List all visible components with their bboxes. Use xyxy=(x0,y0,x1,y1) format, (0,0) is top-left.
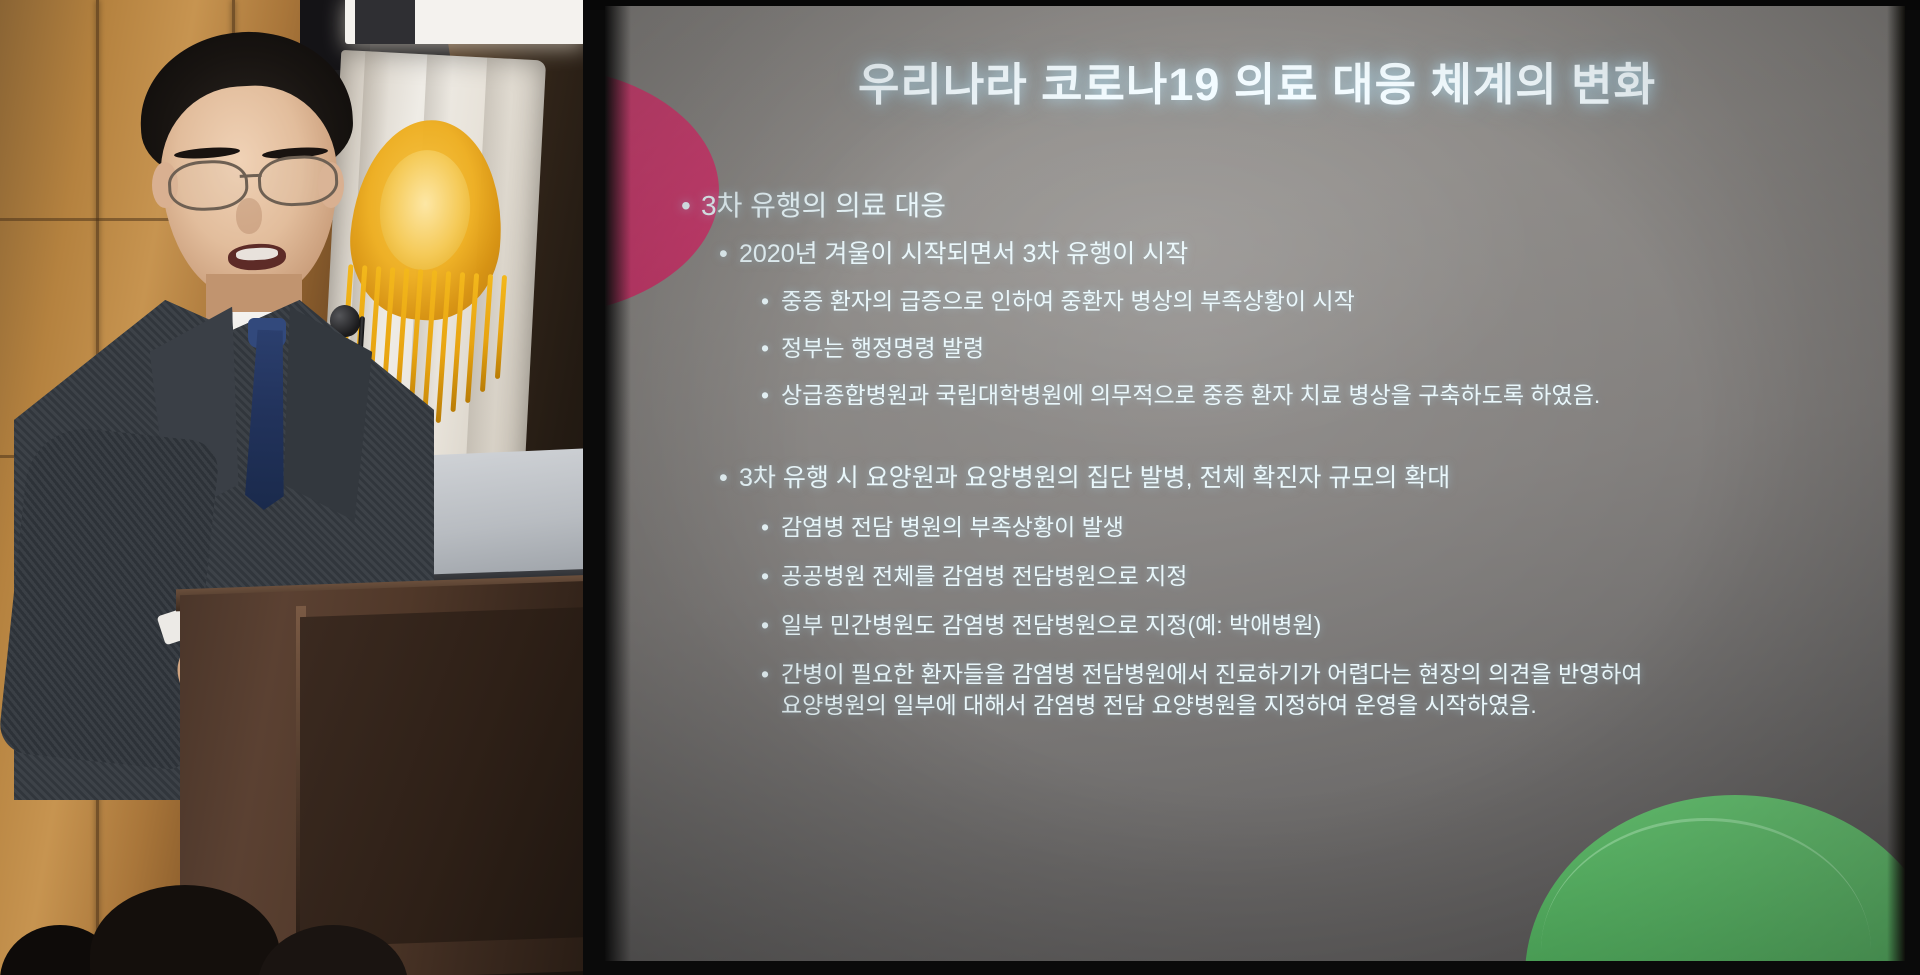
projected-slide: 우리나라 코로나19 의료 대응 체계의 변화 •3차 유행의 의료 대응 •2… xyxy=(605,6,1905,961)
screenshot-root: 우리나라 코로나19 의료 대응 체계의 변화 •3차 유행의 의료 대응 •2… xyxy=(0,0,1920,975)
laptop-screen xyxy=(420,448,583,587)
bullet-level3-wrapped: •간병이 필요한 환자들을 감염병 전담병원에서 진료하기가 어렵다는 현장의 … xyxy=(761,659,1891,721)
section-spacer xyxy=(661,414,1891,448)
bullet-marker: • xyxy=(761,333,781,364)
slide-body: •3차 유행의 의료 대응 •2020년 겨울이 시작되면서 3차 유행이 시작… xyxy=(661,184,1891,725)
bullet-level3: •일부 민간병원도 감염병 전담병원으로 지정(예: 박애병원) xyxy=(761,610,1891,641)
bullet-level3: •정부는 행정명령 발령 xyxy=(761,333,1891,364)
slide-title: 우리나라 코로나19 의료 대응 체계의 변화 xyxy=(697,48,1817,113)
bullet-level3-line1: 간병이 필요한 환자들을 감염병 전담병원에서 진료하기가 어렵다는 현장의 의… xyxy=(781,661,1643,687)
projection-screen-panel: 우리나라 코로나19 의료 대응 체계의 변화 •3차 유행의 의료 대응 •2… xyxy=(583,0,1920,975)
bullet-marker: • xyxy=(719,464,739,493)
bullet-level3-text: 감염병 전담 병원의 부족상황이 발생 xyxy=(781,514,1124,540)
bullet-level2: •3차 유행 시 요양원과 요양병원의 집단 발병, 전체 확진자 규모의 확대 xyxy=(719,458,1891,494)
audience-head xyxy=(90,885,280,975)
bullet-level3-text: 중증 환자의 급증으로 인하여 중환자 병상의 부족상황이 시작 xyxy=(781,288,1355,314)
bullet-marker: • xyxy=(681,190,701,222)
bullet-marker: • xyxy=(761,286,781,317)
audience-head xyxy=(258,925,408,975)
bullet-level2-text: 2020년 겨울이 시작되면서 3차 유행이 시작 xyxy=(739,240,1188,268)
bullet-level3-line2: 요양병원의 일부에 대해서 감염병 전담 요양병원을 지정하여 운영을 시작하였… xyxy=(781,690,1891,721)
bullet-level3-text: 공공병원 전체를 감염병 전담병원으로 지정 xyxy=(781,563,1187,589)
bullet-level2: •2020년 겨울이 시작되면서 3차 유행이 시작 xyxy=(719,234,1891,270)
bullet-level3: •중증 환자의 급증으로 인하여 중환자 병상의 부족상황이 시작 xyxy=(761,286,1891,317)
bullet-level3-text: 일부 민간병원도 감염병 전담병원으로 지정(예: 박애병원) xyxy=(781,612,1321,638)
bullet-marker: • xyxy=(761,610,781,641)
bullet-marker: • xyxy=(761,659,781,690)
bullet-level1: •3차 유행의 의료 대응 xyxy=(681,184,1891,224)
bullet-marker: • xyxy=(761,512,781,543)
bullet-marker: • xyxy=(761,380,781,411)
screen-edge-shadow xyxy=(1887,6,1905,961)
bullet-level3: •감염병 전담 병원의 부족상황이 발생 xyxy=(761,512,1891,543)
presenter-photo-panel xyxy=(0,0,583,975)
audience-silhouettes xyxy=(0,855,583,975)
bullet-level3: •공공병원 전체를 감염병 전담병원으로 지정 xyxy=(761,561,1891,592)
bullet-level1-text: 3차 유행의 의료 대응 xyxy=(701,190,946,221)
bullet-level3-text: 정부는 행정명령 발령 xyxy=(781,335,984,361)
bullet-marker: • xyxy=(719,240,739,269)
screen-edge-shadow xyxy=(605,6,631,961)
bullet-marker: • xyxy=(761,561,781,592)
bullet-level2-text: 3차 유행 시 요양원과 요양병원의 집단 발병, 전체 확진자 규모의 확대 xyxy=(739,464,1450,492)
bullet-level3: •상급종합병원과 국립대학병원에 의무적으로 중증 환자 치료 병상을 구축하도… xyxy=(761,380,1891,411)
bullet-level3-text: 상급종합병원과 국립대학병원에 의무적으로 중증 환자 치료 병상을 구축하도록… xyxy=(781,382,1600,408)
speaker-nose xyxy=(236,198,262,234)
